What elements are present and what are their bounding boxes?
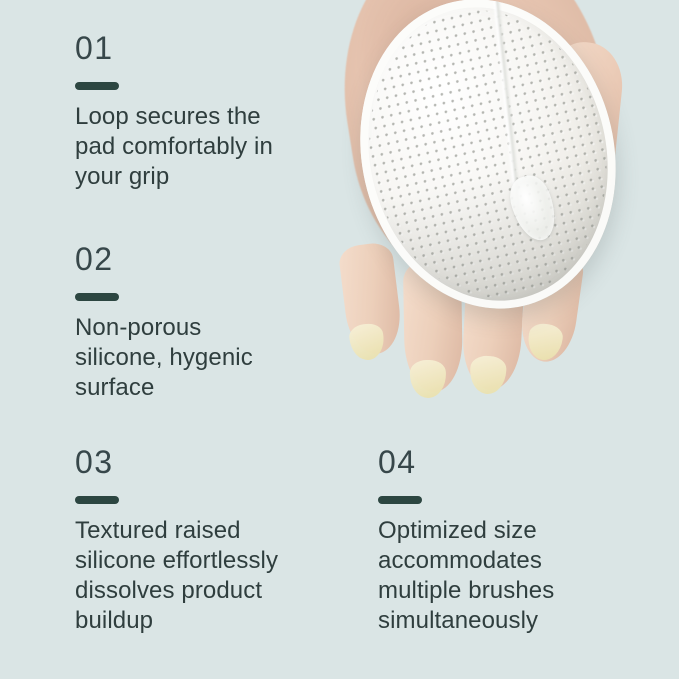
pad-rim <box>330 0 646 334</box>
pad-texture-highlights <box>341 0 634 322</box>
feature-description-4: Optimized size accommodates multiple bru… <box>378 516 554 636</box>
finger-ring <box>461 261 526 392</box>
feature-number-1: 01 <box>75 32 273 64</box>
accent-dash-1 <box>75 82 119 90</box>
feature-item-2: 02 Non-porous silicone, hygenic surface <box>75 243 253 403</box>
finger-pinky <box>517 249 586 365</box>
fingernail-ring <box>469 355 507 395</box>
palm <box>330 0 637 314</box>
feature-description-3: Textured raised silicone effortlessly di… <box>75 516 278 636</box>
accent-dash-3 <box>75 496 119 504</box>
feature-item-4: 04 Optimized size accommodates multiple … <box>378 446 554 636</box>
fingernail-index <box>348 322 386 362</box>
feature-item-1: 01 Loop secures the pad comfortably in y… <box>75 32 273 192</box>
feature-description-2: Non-porous silicone, hygenic surface <box>75 313 253 403</box>
accent-dash-2 <box>75 293 119 301</box>
silicone-loop-strap <box>490 0 522 206</box>
feature-description-1: Loop secures the pad comfortably in your… <box>75 102 273 192</box>
pad-lower-shadow <box>369 144 645 334</box>
silicone-cleaning-pad <box>330 0 646 334</box>
finger-index <box>337 241 404 357</box>
thumb <box>531 39 626 252</box>
feature-number-4: 04 <box>378 446 554 478</box>
accent-dash-4 <box>378 496 422 504</box>
fingernail-middle <box>410 360 447 399</box>
palm-shadow <box>332 0 527 197</box>
infographic-page: 01 Loop secures the pad comfortably in y… <box>0 0 679 679</box>
thumbnail <box>553 186 602 238</box>
silicone-loop-knot <box>504 171 562 246</box>
feature-number-2: 02 <box>75 243 253 275</box>
fingernail-pinky <box>526 322 565 362</box>
product-photo <box>330 0 679 464</box>
feature-item-3: 03 Textured raised silicone effortlessly… <box>75 446 278 636</box>
finger-middle <box>403 260 463 393</box>
pad-texture-dots <box>341 0 634 322</box>
feature-number-3: 03 <box>75 446 278 478</box>
